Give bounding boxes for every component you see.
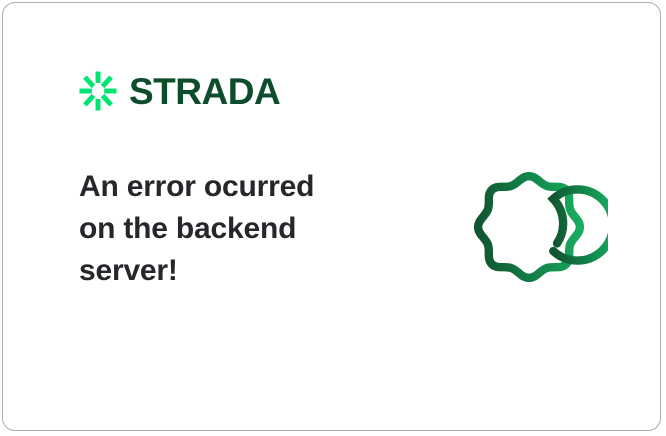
message-line: server!	[79, 250, 379, 292]
strada-asterisk-icon	[79, 71, 117, 111]
brand-lockup: STRADA	[79, 71, 280, 111]
error-card: STRADA An error ocurred on the backend s…	[2, 2, 661, 431]
error-message-text: An error ocurred on the backend server!	[79, 166, 379, 292]
message-line: on the backend	[79, 208, 379, 250]
brand-wordmark: STRADA	[129, 73, 280, 110]
message-line: An error ocurred	[79, 166, 379, 208]
